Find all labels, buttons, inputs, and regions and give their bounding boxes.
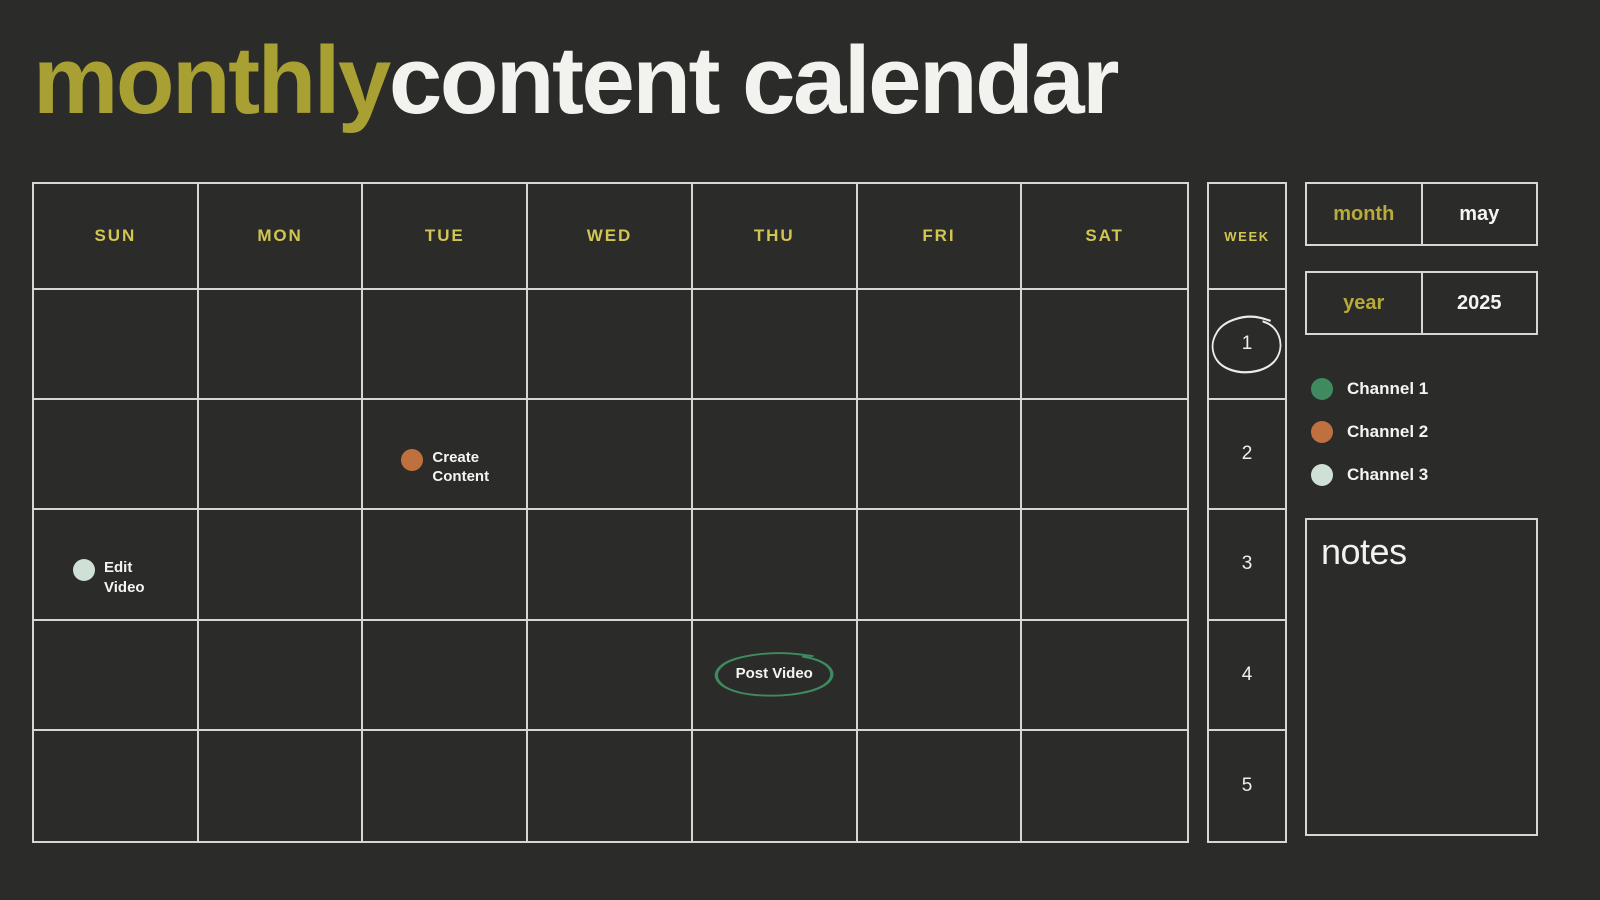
week-number-2: 2 (1242, 443, 1253, 465)
week-number-1: 1 (1242, 333, 1253, 355)
event-edit-video-label: Edit Video (104, 558, 145, 596)
day-cell-w2-thu[interactable] (693, 400, 858, 510)
day-cell-w2-sun[interactable] (34, 400, 199, 510)
day-cell-w2-tue[interactable]: Create Content (363, 400, 528, 510)
day-cell-w1-sat[interactable] (1022, 290, 1187, 400)
day-header-sat: SAT (1022, 184, 1187, 290)
channel-1-dot-icon (1311, 378, 1333, 400)
page-title-main: content calendar (389, 27, 1117, 134)
week-cell-4[interactable]: 4 (1209, 621, 1285, 731)
week-number-4: 4 (1242, 664, 1253, 686)
day-cell-w3-sat[interactable] (1022, 510, 1187, 620)
day-header-tue: TUE (363, 184, 528, 290)
notes-box[interactable]: notes (1305, 518, 1538, 836)
event-create-content-label: Create Content (432, 448, 489, 486)
day-cell-w1-thu[interactable] (693, 290, 858, 400)
day-cell-w3-sun[interactable]: Edit Video (34, 510, 199, 620)
day-cell-w5-mon[interactable] (199, 731, 364, 841)
legend-label-channel-2: Channel 2 (1347, 422, 1428, 442)
day-cell-w5-sun[interactable] (34, 731, 199, 841)
channel-legend: Channel 1 Channel 2 Channel 3 (1305, 367, 1538, 496)
day-header-mon: MON (199, 184, 364, 290)
week-1-highlight-wrap: 1 (1230, 329, 1264, 359)
event-post-video-label: Post Video (736, 665, 813, 682)
day-cell-w4-thu[interactable]: Post Video (693, 621, 858, 731)
event-post-video-circle-wrap: Post Video (712, 651, 837, 696)
day-cell-w5-tue[interactable] (363, 731, 528, 841)
day-cell-w4-sat[interactable] (1022, 621, 1187, 731)
day-cell-w1-tue[interactable] (363, 290, 528, 400)
legend-item-channel-2[interactable]: Channel 2 (1311, 410, 1538, 453)
day-cell-w4-mon[interactable] (199, 621, 364, 731)
week-column-header: WEEK (1209, 184, 1285, 290)
legend-label-channel-1: Channel 1 (1347, 379, 1428, 399)
day-cell-w1-mon[interactable] (199, 290, 364, 400)
day-header-wed: WED (528, 184, 693, 290)
week-cell-3[interactable]: 3 (1209, 510, 1285, 620)
day-cell-w1-sun[interactable] (34, 290, 199, 400)
legend-item-channel-3[interactable]: Channel 3 (1311, 453, 1538, 496)
day-cell-w1-fri[interactable] (858, 290, 1023, 400)
month-value[interactable]: may (1423, 184, 1537, 244)
page-title-accent: monthly (33, 27, 389, 134)
week-cell-2[interactable]: 2 (1209, 400, 1285, 510)
event-edit-video[interactable]: Edit Video (73, 558, 145, 596)
channel-2-dot-icon (401, 449, 423, 471)
day-cell-w4-tue[interactable] (363, 621, 528, 731)
day-cell-w3-thu[interactable] (693, 510, 858, 620)
notes-title: notes (1321, 534, 1522, 570)
calendar-grid: SUN MON TUE WED THU FRI SAT Create Conte… (32, 182, 1189, 843)
week-number-5: 5 (1242, 775, 1253, 797)
week-cell-1[interactable]: 1 (1209, 290, 1285, 400)
month-row: month may (1305, 182, 1538, 246)
week-number-3: 3 (1242, 553, 1253, 575)
week-number-column: WEEK 1 2 3 4 5 (1207, 182, 1287, 843)
legend-label-channel-3: Channel 3 (1347, 465, 1428, 485)
week-cell-5[interactable]: 5 (1209, 731, 1285, 841)
day-cell-w5-wed[interactable] (528, 731, 693, 841)
day-cell-w2-mon[interactable] (199, 400, 364, 510)
day-cell-w5-thu[interactable] (693, 731, 858, 841)
event-post-video[interactable]: Post Video (693, 651, 856, 696)
channel-3-dot-icon (1311, 464, 1333, 486)
channel-3-dot-icon (73, 559, 95, 581)
day-cell-w5-sat[interactable] (1022, 731, 1187, 841)
day-cell-w4-fri[interactable] (858, 621, 1023, 731)
day-cell-w3-wed[interactable] (528, 510, 693, 620)
day-cell-w3-mon[interactable] (199, 510, 364, 620)
day-cell-w2-wed[interactable] (528, 400, 693, 510)
day-header-sun: SUN (34, 184, 199, 290)
right-panel: month may year 2025 Channel 1 Channel 2 … (1305, 182, 1538, 836)
day-cell-w4-sun[interactable] (34, 621, 199, 731)
legend-item-channel-1[interactable]: Channel 1 (1311, 367, 1538, 410)
content-calendar-page: monthlycontent calendar SUN MON TUE WED … (0, 0, 1600, 900)
day-header-thu: THU (693, 184, 858, 290)
channel-2-dot-icon (1311, 421, 1333, 443)
day-cell-w3-tue[interactable] (363, 510, 528, 620)
month-label: month (1307, 184, 1423, 244)
day-header-fri: FRI (858, 184, 1023, 290)
year-value[interactable]: 2025 (1423, 273, 1537, 333)
day-cell-w3-fri[interactable] (858, 510, 1023, 620)
page-title: monthlycontent calendar (33, 33, 1117, 129)
day-cell-w1-wed[interactable] (528, 290, 693, 400)
year-row: year 2025 (1305, 271, 1538, 335)
day-cell-w4-wed[interactable] (528, 621, 693, 731)
year-label: year (1307, 273, 1423, 333)
event-create-content[interactable]: Create Content (401, 448, 489, 486)
day-cell-w5-fri[interactable] (858, 731, 1023, 841)
day-cell-w2-fri[interactable] (858, 400, 1023, 510)
day-cell-w2-sat[interactable] (1022, 400, 1187, 510)
